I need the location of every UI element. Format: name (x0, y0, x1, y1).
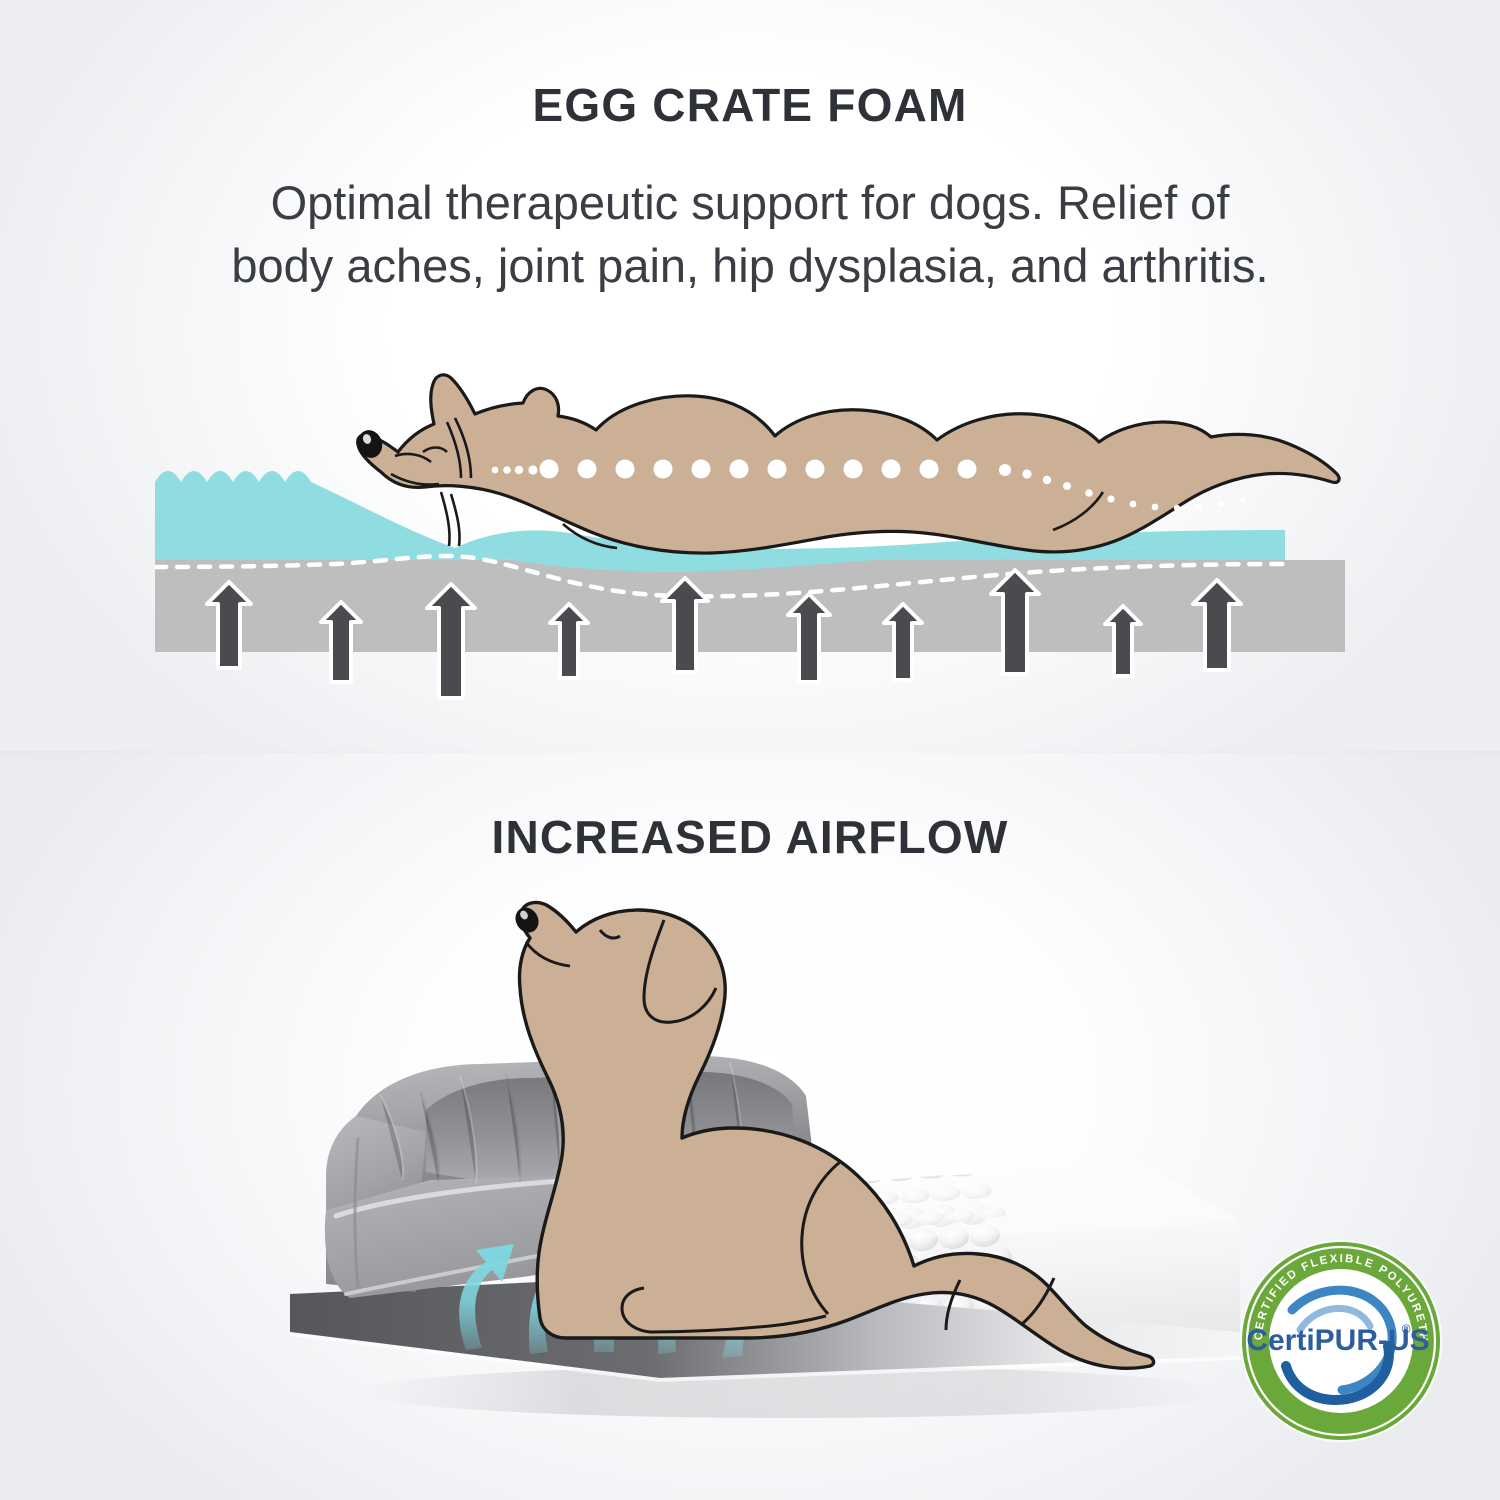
dog-lying-head-up (511, 903, 1154, 1369)
subtitle-line-2: body aches, joint pain, hip dysplasia, a… (231, 239, 1268, 292)
dog-bed-illustration (230, 880, 1290, 1440)
dog-lying-on-side (354, 375, 1339, 553)
top-section-subtitle: Optimal therapeutic support for dogs. Re… (50, 172, 1450, 297)
subtitle-line-1: Optimal therapeutic support for dogs. Re… (271, 176, 1230, 229)
top-section-title: EGG CRATE FOAM (0, 78, 1500, 132)
section-divider (0, 751, 1500, 753)
badge-registered-mark: ® (1402, 1322, 1411, 1336)
infographic-page: EGG CRATE FOAM Optimal therapeutic suppo… (0, 0, 1500, 1500)
certipur-us-badge: CONTAINS CERTIFIED FLEXIBLE POLYURETHANE… (1238, 1238, 1444, 1444)
bottom-section-title: INCREASED AIRFLOW (0, 810, 1500, 864)
cross-section-illustration (155, 352, 1345, 702)
egg-crate-foam-panel: EGG CRATE FOAM Optimal therapeutic suppo… (0, 0, 1500, 752)
